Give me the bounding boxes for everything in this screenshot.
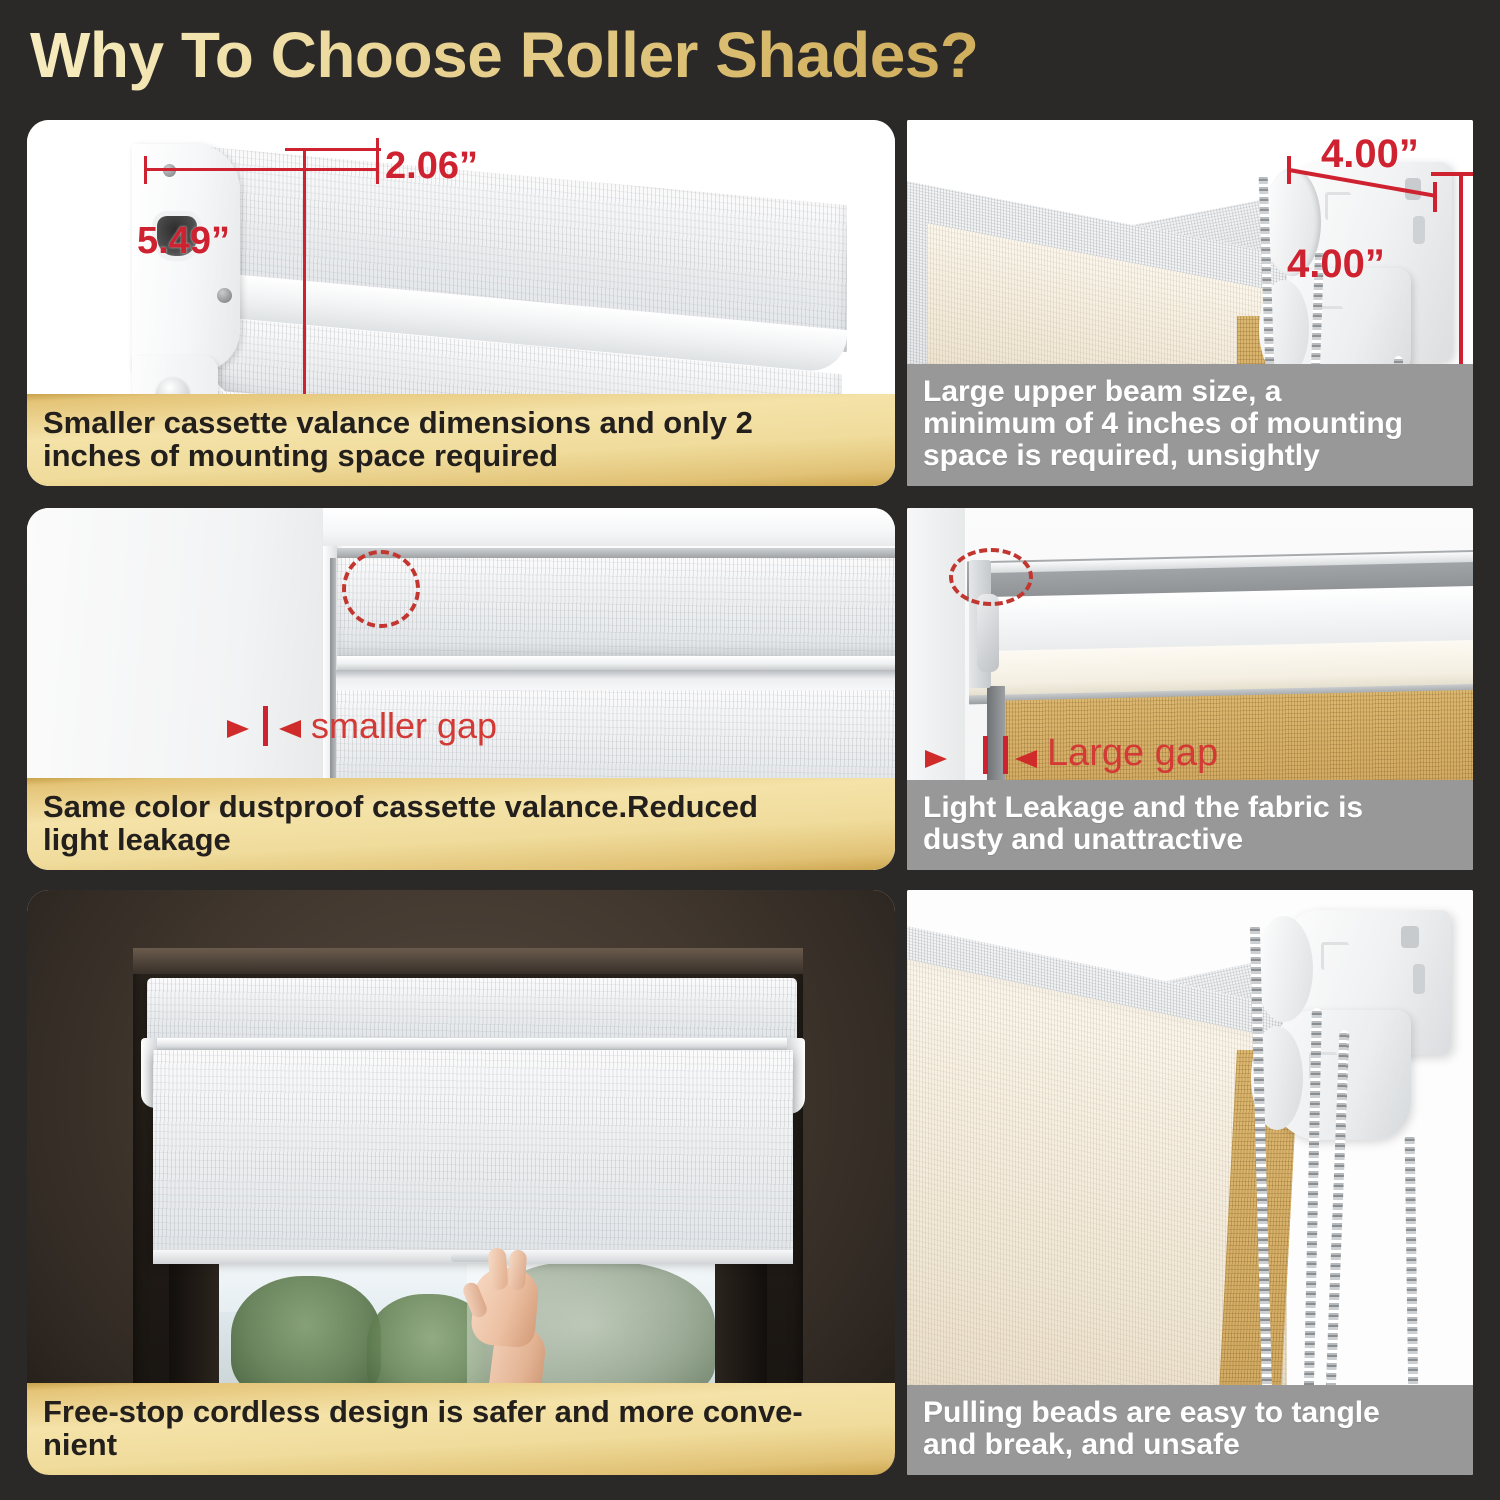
window-frame-left-jamb	[27, 508, 327, 788]
gap-tick	[263, 706, 268, 746]
cassette-valance-top-lip	[337, 548, 895, 558]
cassette-valance-face	[337, 558, 895, 656]
dim-4-00-h-tick-left	[1287, 156, 1291, 184]
light-gap-sliver	[330, 558, 336, 800]
panel-3-caption: Same color dustproof cassette valance.Re…	[27, 778, 895, 870]
window-frame-head	[323, 508, 895, 546]
cassette-valance-bottom-edge	[337, 656, 895, 670]
bracket-slot-2	[1413, 964, 1425, 994]
dim-2-06-label: 2.06”	[385, 145, 478, 188]
highlight-circle	[342, 550, 420, 628]
highlight-circle	[949, 548, 1033, 606]
gap-tick-b	[1003, 736, 1008, 774]
hand-finger-middle	[508, 1250, 527, 1291]
panel-6-caption: Pulling beads are easy to tangle and bre…	[907, 1385, 1473, 1475]
panel-3-dustproof-valance: smaller gap Same color dustproof cassett…	[27, 508, 895, 870]
gap-callout-label: Large gap	[1047, 732, 1218, 775]
caption-line: nient	[43, 1428, 879, 1461]
dim-2-06-line	[144, 168, 379, 171]
bracket-slot-1	[1401, 926, 1419, 948]
dim-4-00-v-tick-top	[1431, 172, 1473, 176]
dim-5-49-label: 5.49”	[137, 220, 230, 263]
panel-6-pulling-beads: Pulling beads are easy to tangle and bre…	[907, 890, 1473, 1475]
dim-4-00-h-label: 4.00”	[1321, 132, 1419, 177]
window-recess-head	[133, 948, 803, 974]
dim-4-00-v-label: 4.00”	[1287, 242, 1385, 287]
panel-5-caption: Free-stop cordless design is safer and m…	[27, 1383, 895, 1475]
dim-2-06-tick-right	[376, 138, 379, 184]
gap-tick-a	[983, 736, 988, 774]
caption-line: Free-stop cordless design is safer and m…	[43, 1395, 879, 1428]
panel-4-light-leakage: Large gap Light Leakage and the fabric i…	[907, 508, 1473, 870]
gap-arrow-left	[925, 750, 947, 768]
shade-fabric	[153, 1050, 793, 1258]
hand-finger-index	[488, 1247, 509, 1290]
panel-1-caption: Smaller cassette valance dimensions and …	[27, 394, 895, 486]
dim-5-49-tick-top	[285, 148, 381, 151]
panel-1-smaller-cassette: 2.06” 5.49” Smaller cassette valance dim…	[27, 120, 895, 486]
window-glass-view	[217, 1252, 717, 1398]
caption-line: Same color dustproof cassette valance.Re…	[43, 790, 879, 823]
gap-arrow-right	[279, 720, 301, 738]
screw-middle	[217, 288, 232, 303]
shade-roll	[333, 670, 895, 692]
dim-4-00-h-tick-right	[1433, 182, 1437, 212]
tree-foliage-left	[231, 1276, 381, 1398]
panel-5-cordless-design: Free-stop cordless design is safer and m…	[27, 890, 895, 1475]
cassette-valance	[147, 978, 797, 1040]
gap-arrow-left	[227, 720, 249, 738]
caption-line: Smaller cassette valance dimensions and …	[43, 406, 879, 439]
dim-4-00-v-line	[1459, 172, 1463, 377]
caption-line: Light Leakage and the fabric is	[923, 792, 1457, 824]
bracket-emboss-1	[1325, 192, 1351, 220]
caption-line: minimum of 4 inches of mounting	[923, 408, 1457, 440]
caption-line: inches of mounting space required	[43, 439, 879, 472]
caption-line: dusty and unattractive	[923, 824, 1457, 856]
dim-2-06-tick-left	[144, 156, 147, 184]
caption-line: space is required, unsightly	[923, 440, 1457, 472]
caption-line: and break, and unsafe	[923, 1429, 1457, 1461]
caption-line: Pulling beads are easy to tangle	[923, 1397, 1457, 1429]
caption-line: Large upper beam size, a	[923, 376, 1457, 408]
roller-end-disc	[1255, 916, 1313, 1022]
bracket-slot-2	[1413, 216, 1425, 244]
gap-callout-label: smaller gap	[311, 705, 497, 747]
caption-line: light leakage	[43, 823, 879, 856]
gap-arrow-right	[1015, 750, 1037, 768]
page-title: Why To Choose Roller Shades?	[30, 18, 978, 92]
bracket-emboss-1	[1321, 942, 1349, 970]
panel-4-caption: Light Leakage and the fabric is dusty an…	[907, 780, 1473, 870]
panel-2-large-upper-beam: 4.00” 4.00” Large upper beam size, a min…	[907, 120, 1473, 486]
panel-2-caption: Large upper beam size, a minimum of 4 in…	[907, 364, 1473, 486]
